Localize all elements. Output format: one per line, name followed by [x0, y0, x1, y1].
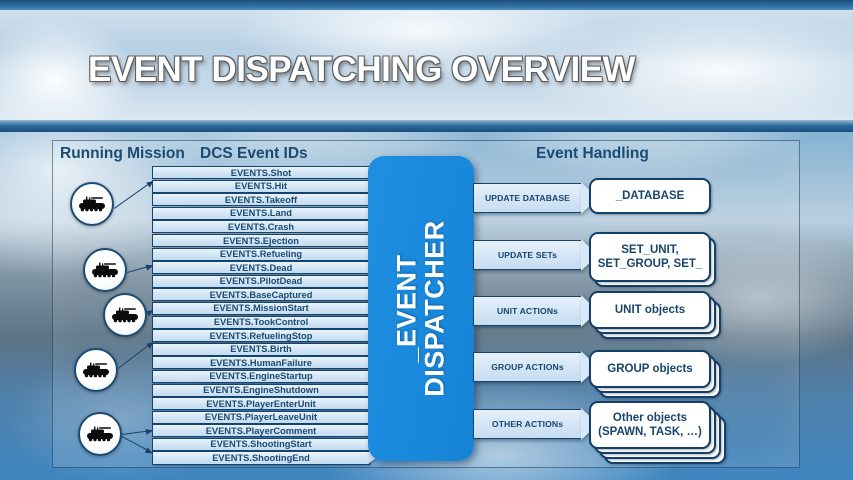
event-id-label: EVENTS.Hit — [235, 181, 287, 191]
event-id-label: EVENTS.RefuelingStop — [210, 331, 313, 341]
handler-action-arrow[interactable]: GROUP ACTIONs — [473, 352, 581, 382]
event-id-list: EVENTS.ShotEVENTS.HitEVENTS.TakeoffEVENT… — [152, 166, 370, 465]
handler-object-card[interactable]: UNIT objects — [589, 291, 711, 329]
handler-action-label: UPDATE DATABASE — [485, 193, 570, 203]
handler-action-arrow[interactable]: UNIT ACTIONs — [473, 296, 581, 326]
event-id-label: EVENTS.EngineShutdown — [203, 385, 319, 395]
event-id-bar[interactable]: EVENTS.ShootingStart — [152, 438, 370, 451]
column-header-event-handling: Event Handling — [536, 145, 649, 163]
event-id-label: EVENTS.TookControl — [214, 317, 308, 327]
handler-object-card[interactable]: SET_UNIT,SET_GROUP, SET_ — [589, 232, 711, 282]
handler-action-arrow[interactable]: UPDATE SETs — [473, 240, 581, 270]
handler-object-card[interactable]: GROUP objects — [589, 350, 711, 388]
event-id-bar[interactable]: EVENTS.Ejection — [152, 234, 370, 247]
event-id-bar[interactable]: EVENTS.Crash — [152, 220, 370, 233]
event-id-label: EVENTS.MissionStart — [213, 303, 309, 313]
handler-object-label: UNIT objects — [615, 303, 685, 317]
event-id-label: EVENTS.Refueling — [220, 249, 302, 259]
event-id-bar[interactable]: EVENTS.PlayerComment — [152, 424, 370, 437]
mission-unit-icon[interactable] — [70, 182, 114, 226]
event-id-label: EVENTS.Ejection — [223, 236, 299, 246]
event-id-bar[interactable]: EVENTS.PilotDead — [152, 275, 370, 288]
event-id-label: EVENTS.Birth — [230, 344, 291, 354]
event-id-label: EVENTS.BaseCaptured — [210, 290, 313, 300]
dispatcher-line-2: DISPATCHER — [421, 220, 449, 397]
event-id-bar[interactable]: EVENTS.Land — [152, 207, 370, 220]
event-id-bar[interactable]: EVENTS.Hit — [152, 180, 370, 193]
event-id-label: EVENTS.ShootingStart — [210, 439, 311, 449]
tank-icon — [110, 306, 140, 324]
column-header-dcs-event-ids: DCS Event IDs — [200, 145, 308, 163]
handler-action-arrow[interactable]: UPDATE DATABASE — [473, 183, 581, 213]
dispatcher-line-1: _EVENT — [393, 220, 421, 397]
handler-object-card[interactable]: Other objects(SPAWN, TASK, …) — [589, 401, 711, 449]
header-top-band — [0, 0, 853, 10]
event-id-bar[interactable]: EVENTS.TookControl — [152, 316, 370, 329]
event-id-label: EVENTS.EngineStartup — [209, 371, 312, 381]
event-id-bar[interactable]: EVENTS.Refueling — [152, 248, 370, 261]
tank-icon — [81, 361, 111, 379]
event-id-label: EVENTS.Takeoff — [225, 195, 297, 205]
event-id-bar[interactable]: EVENTS.Takeoff — [152, 193, 370, 206]
event-id-label: EVENTS.Crash — [228, 222, 294, 232]
handler-action-label: OTHER ACTIONs — [492, 419, 563, 429]
event-dispatcher-panel[interactable]: _EVENT DISPATCHER — [368, 156, 474, 461]
event-id-bar[interactable]: EVENTS.BaseCaptured — [152, 288, 370, 301]
event-id-bar[interactable]: EVENTS.Shot — [152, 166, 370, 179]
mission-unit-icon[interactable] — [78, 412, 122, 456]
event-id-bar[interactable]: EVENTS.ShootingEnd — [152, 451, 370, 464]
tank-icon — [77, 195, 107, 213]
column-header-running-mission: Running Mission — [60, 145, 185, 163]
mission-unit-icon[interactable] — [83, 248, 127, 292]
event-id-label: EVENTS.PlayerLeaveUnit — [205, 412, 317, 422]
handler-action-arrow[interactable]: OTHER ACTIONs — [473, 409, 581, 439]
event-id-label: EVENTS.Dead — [230, 263, 293, 273]
header-bottom-band — [0, 120, 853, 132]
handler-action-label: UPDATE SETs — [498, 250, 557, 260]
event-id-bar[interactable]: EVENTS.EngineShutdown — [152, 384, 370, 397]
event-id-label: EVENTS.HumanFailure — [210, 358, 312, 368]
event-id-bar[interactable]: EVENTS.RefuelingStop — [152, 329, 370, 342]
event-id-label: EVENTS.PilotDead — [220, 276, 303, 286]
event-id-bar[interactable]: EVENTS.Birth — [152, 343, 370, 356]
handler-action-label: GROUP ACTIONs — [491, 362, 563, 372]
handler-action-label: UNIT ACTIONs — [497, 306, 558, 316]
event-id-label: EVENTS.Land — [230, 208, 292, 218]
event-id-bar[interactable]: EVENTS.Dead — [152, 261, 370, 274]
handler-object-card[interactable]: _DATABASE — [589, 178, 711, 214]
event-id-bar[interactable]: EVENTS.PlayerLeaveUnit — [152, 411, 370, 424]
event-id-label: EVENTS.PlayerEnterUnit — [206, 399, 316, 409]
slide-canvas: EVENT DISPATCHING OVERVIEW Running Missi… — [0, 0, 853, 480]
event-dispatcher-label: _EVENT DISPATCHER — [393, 220, 448, 397]
event-id-bar[interactable]: EVENTS.MissionStart — [152, 302, 370, 315]
handler-object-label: SET_UNIT,SET_GROUP, SET_ — [598, 243, 703, 272]
tank-icon — [85, 425, 115, 443]
tank-icon — [90, 261, 120, 279]
handler-object-label: Other objects(SPAWN, TASK, …) — [598, 411, 702, 440]
event-id-bar[interactable]: EVENTS.PlayerEnterUnit — [152, 397, 370, 410]
event-id-bar[interactable]: EVENTS.EngineStartup — [152, 370, 370, 383]
event-id-label: EVENTS.ShootingEnd — [212, 453, 310, 463]
event-id-label: EVENTS.PlayerComment — [206, 426, 317, 436]
event-id-bar[interactable]: EVENTS.HumanFailure — [152, 356, 370, 369]
mission-unit-icon[interactable] — [103, 293, 147, 337]
event-id-label: EVENTS.Shot — [231, 168, 291, 178]
handler-object-label: GROUP objects — [607, 362, 692, 376]
mission-unit-icon[interactable] — [74, 348, 118, 392]
handler-object-label: _DATABASE — [616, 189, 685, 203]
page-title: EVENT DISPATCHING OVERVIEW — [88, 50, 635, 90]
